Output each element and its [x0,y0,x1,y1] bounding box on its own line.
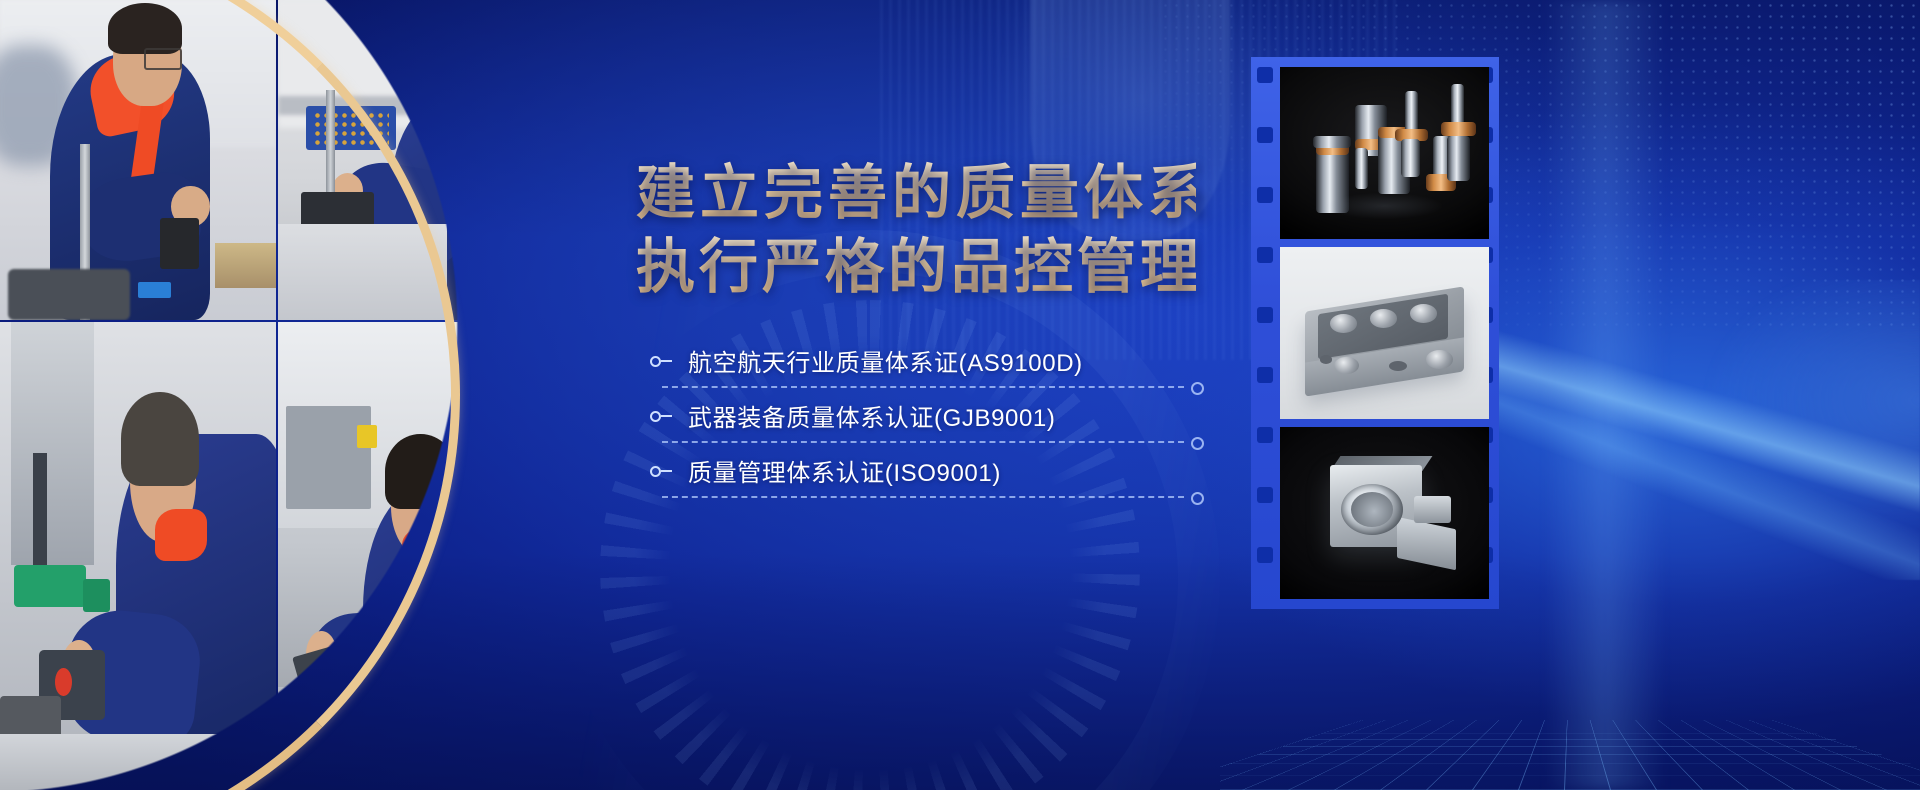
ring-dash-icon [650,409,672,423]
headline-line-1: 建立完善的质量体系 [636,157,1196,231]
certification-list: 航空航天行业质量体系证(AS9100D) 武器装备质量体系认证(GJB9001)… [650,333,1170,498]
ring-dash-icon [650,464,672,478]
certification-label: 武器装备质量体系认证(GJB9001) [688,398,1055,433]
certification-label: 航空航天行业质量体系证(AS9100D) [688,343,1083,378]
thumb-polished-bearing-block [1280,427,1489,599]
small-ring-icon [1191,382,1204,395]
ring-dash-icon [650,354,672,368]
list-item: 武器装备质量体系认证(GJB9001) [650,388,1170,443]
dashed-divider [662,496,1184,498]
product-filmstrip [1251,57,1499,609]
page-title: 建立完善的质量体系 执行严格的品控管理 [636,157,1196,305]
filmstrip-perforations-left [1257,67,1273,599]
certification-label: 质量管理体系认证(ISO9001) [688,453,1001,488]
thumb-machined-aluminum-housing [1280,247,1489,419]
list-item: 质量管理体系认证(ISO9001) [650,443,1170,498]
small-ring-icon [1191,437,1204,450]
thumb-precision-turned-parts [1280,67,1489,239]
quality-system-banner: 建立完善的质量体系 执行严格的品控管理 航空航天行业质量体系证(AS9100D)… [0,0,1920,790]
headline-line-2: 执行严格的品控管理 [636,231,1196,305]
small-ring-icon [1191,492,1204,505]
list-item: 航空航天行业质量体系证(AS9100D) [650,333,1170,388]
